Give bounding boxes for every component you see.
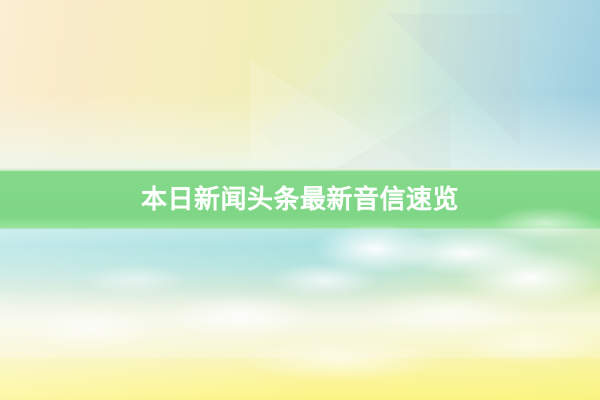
banner-title: 本日新闻头条最新音信速览: [0, 171, 600, 229]
sky-with-clouds: [0, 229, 600, 400]
texture-speckles: [300, 0, 600, 172]
sky-tint-overlay: [0, 229, 600, 400]
news-banner-image: 本日新闻头条最新音信速览: [0, 0, 600, 400]
abstract-gradient-top: [0, 0, 600, 172]
